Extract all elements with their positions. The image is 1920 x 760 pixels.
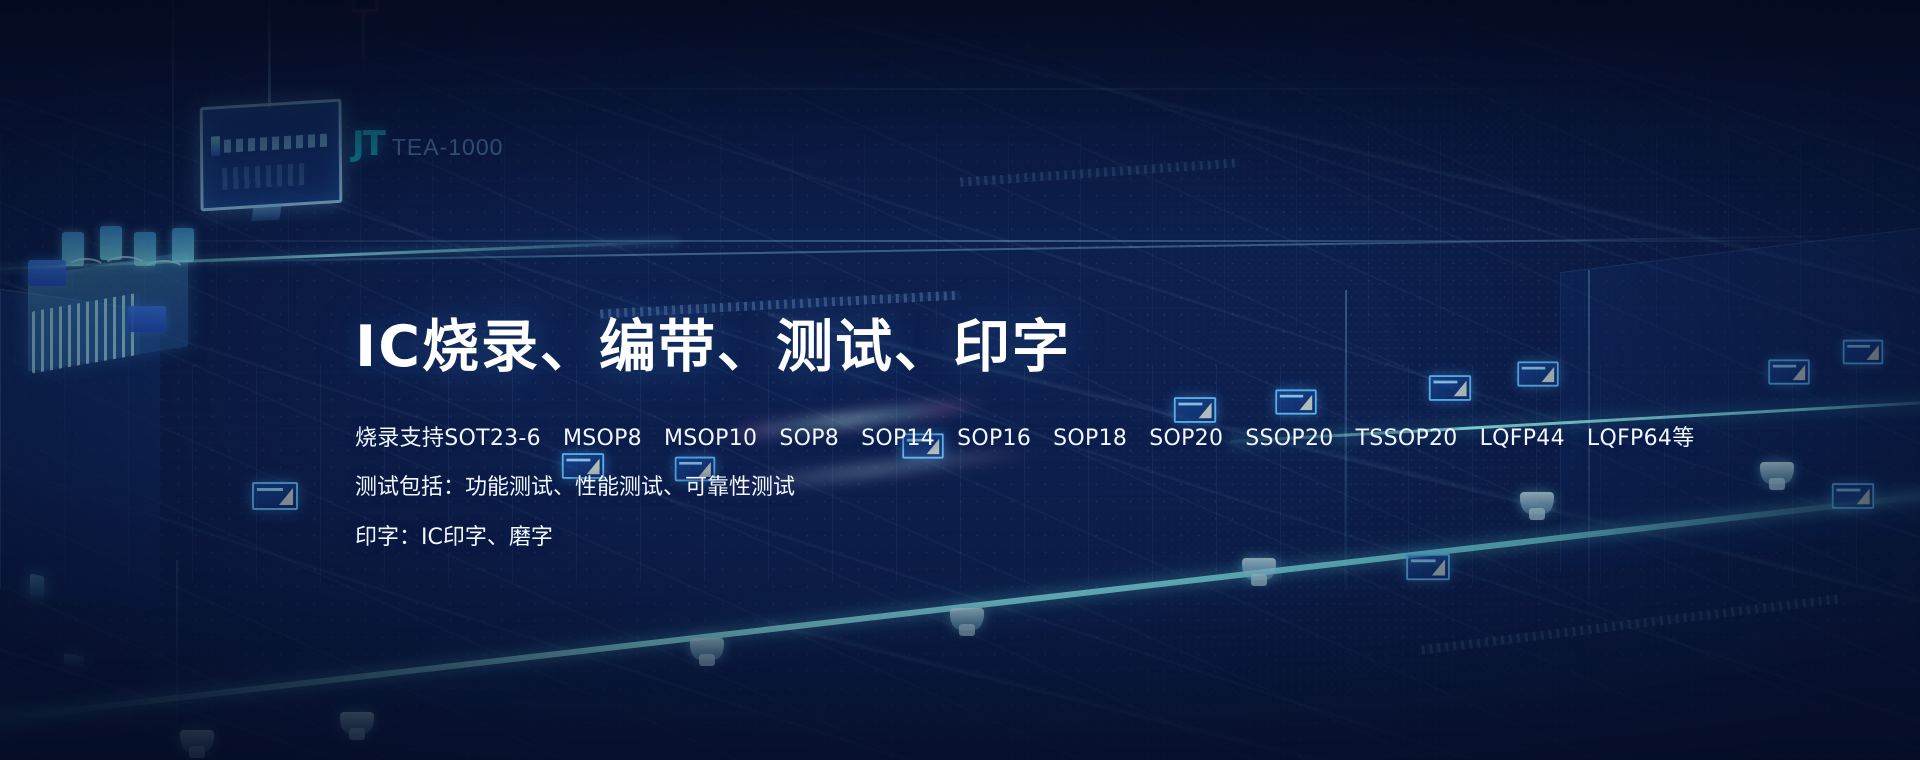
package-chip: SOP8	[779, 426, 839, 451]
package-chip: TSSOP20	[1356, 426, 1458, 451]
package-chip: SOP18	[1053, 426, 1127, 451]
marking-line: 印字：IC印字、磨字	[355, 527, 1615, 549]
package-chip: LQFP64等	[1587, 426, 1695, 451]
banner-copy: IC烧录、编带、测试、印字 烧录支持SOT23-6MSOP8MSOP10SOP8…	[355, 318, 1615, 549]
top-shade-overlay	[0, 0, 1920, 230]
banner-stage: JT TEA-1000	[0, 0, 1920, 760]
package-chip: SSOP20	[1245, 426, 1333, 451]
package-chip: MSOP10	[664, 426, 757, 451]
packages-lead-label: 烧录支持SOT23-6	[355, 426, 541, 451]
package-chip: SOP14	[861, 426, 935, 451]
package-chip: LQFP44	[1480, 426, 1565, 451]
packages-line: 烧录支持SOT23-6MSOP8MSOP10SOP8SOP14SOP16SOP1…	[355, 428, 1615, 450]
handler-machine-left	[10, 228, 210, 378]
package-chip: SOP20	[1149, 426, 1223, 451]
machine-hose-1	[66, 258, 106, 280]
machine-cylinder-2	[100, 226, 122, 260]
tray-icon-9	[1768, 359, 1809, 384]
page-title: IC烧录、编带、测试、印字	[355, 318, 1615, 378]
package-chip: MSOP8	[563, 426, 642, 451]
tray-icon-10	[1843, 340, 1883, 365]
package-chip: SOP16	[957, 426, 1031, 451]
machine-control-block-2	[128, 306, 166, 332]
machine-cylinder-4	[172, 228, 194, 262]
testing-line: 测试包括：功能测试、性能测试、可靠性测试	[355, 477, 1615, 499]
